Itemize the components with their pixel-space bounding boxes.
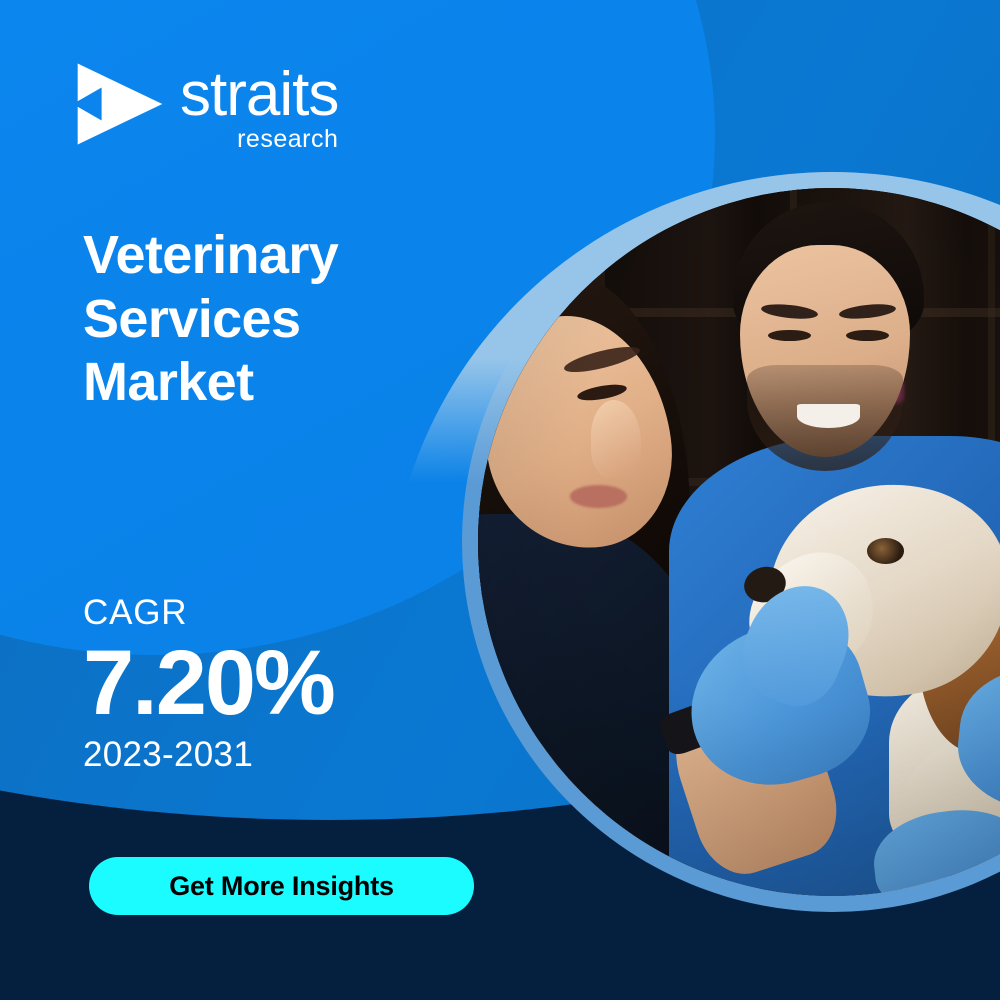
cagr-value: 7.20% [83, 635, 334, 732]
brand-wordmark: straits research [180, 58, 338, 154]
straits-arrow-icon [74, 58, 166, 150]
page-title: Veterinary Services Market [83, 224, 413, 415]
cagr-block: CAGR 7.20% 2023-2031 [83, 594, 334, 775]
photo-scene [478, 188, 1000, 896]
promo-banner: straits research Veterinary Services Mar… [0, 0, 1000, 1000]
brand-name: straits [180, 66, 338, 123]
photo-vignette [478, 188, 1000, 896]
brand-logo[interactable]: straits research [74, 58, 338, 154]
cagr-label: CAGR [83, 594, 334, 633]
brand-tagline: research [180, 125, 338, 154]
get-more-insights-button[interactable]: Get More Insights [89, 857, 474, 915]
forecast-period: 2023-2031 [83, 735, 334, 775]
hero-photo [478, 188, 1000, 896]
